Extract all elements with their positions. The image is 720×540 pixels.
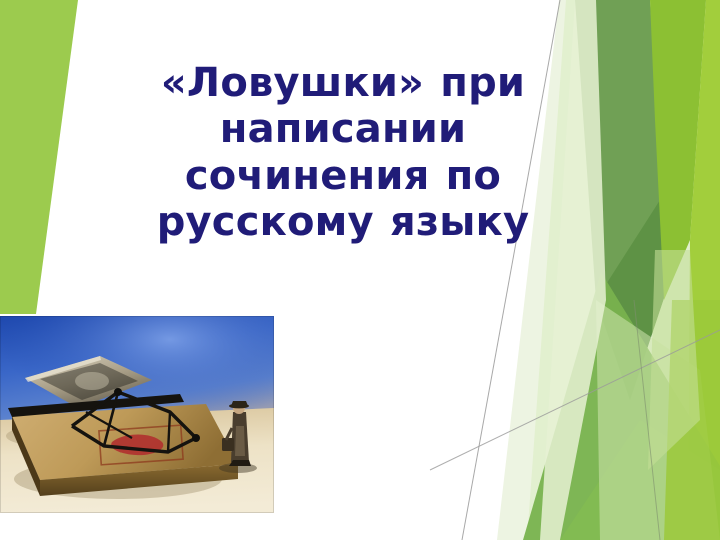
mousetrap-photo-graphic bbox=[0, 316, 274, 513]
presentation-slide: «Ловушки» при написании сочинения по рус… bbox=[0, 0, 720, 540]
photo-trap-hinge-left bbox=[114, 388, 122, 396]
photo-figurine-briefcase bbox=[222, 438, 234, 451]
facet-pale-lower-overlay bbox=[596, 300, 720, 540]
hairline-diagonal-tertiary bbox=[634, 300, 660, 540]
facet-mid-green-lower bbox=[523, 272, 720, 540]
photo-figurine-coat-light bbox=[235, 426, 245, 456]
facet-light-accent bbox=[648, 250, 700, 470]
hairline-diagonal-secondary bbox=[430, 330, 720, 470]
title-placeholder[interactable]: «Ловушки» при написании сочинения по рус… bbox=[108, 60, 578, 246]
photo-figurine-hat-brim bbox=[229, 404, 249, 409]
photo-trap-hinge-right bbox=[192, 434, 200, 442]
facet-bright-bottom-right bbox=[664, 300, 720, 540]
mousetrap-photo bbox=[0, 316, 274, 513]
facet-mid-green-bottom bbox=[560, 420, 720, 540]
photo-banknote-portrait bbox=[75, 372, 109, 390]
page-title: «Ловушки» при написании сочинения по рус… bbox=[108, 60, 578, 246]
facet-bright-green-band bbox=[650, 0, 706, 300]
facet-lime-far-right bbox=[688, 0, 720, 540]
facet-dark-green-band bbox=[575, 0, 668, 400]
facet-dark-green-lower bbox=[596, 200, 676, 400]
left-green-wedge bbox=[0, 0, 78, 314]
